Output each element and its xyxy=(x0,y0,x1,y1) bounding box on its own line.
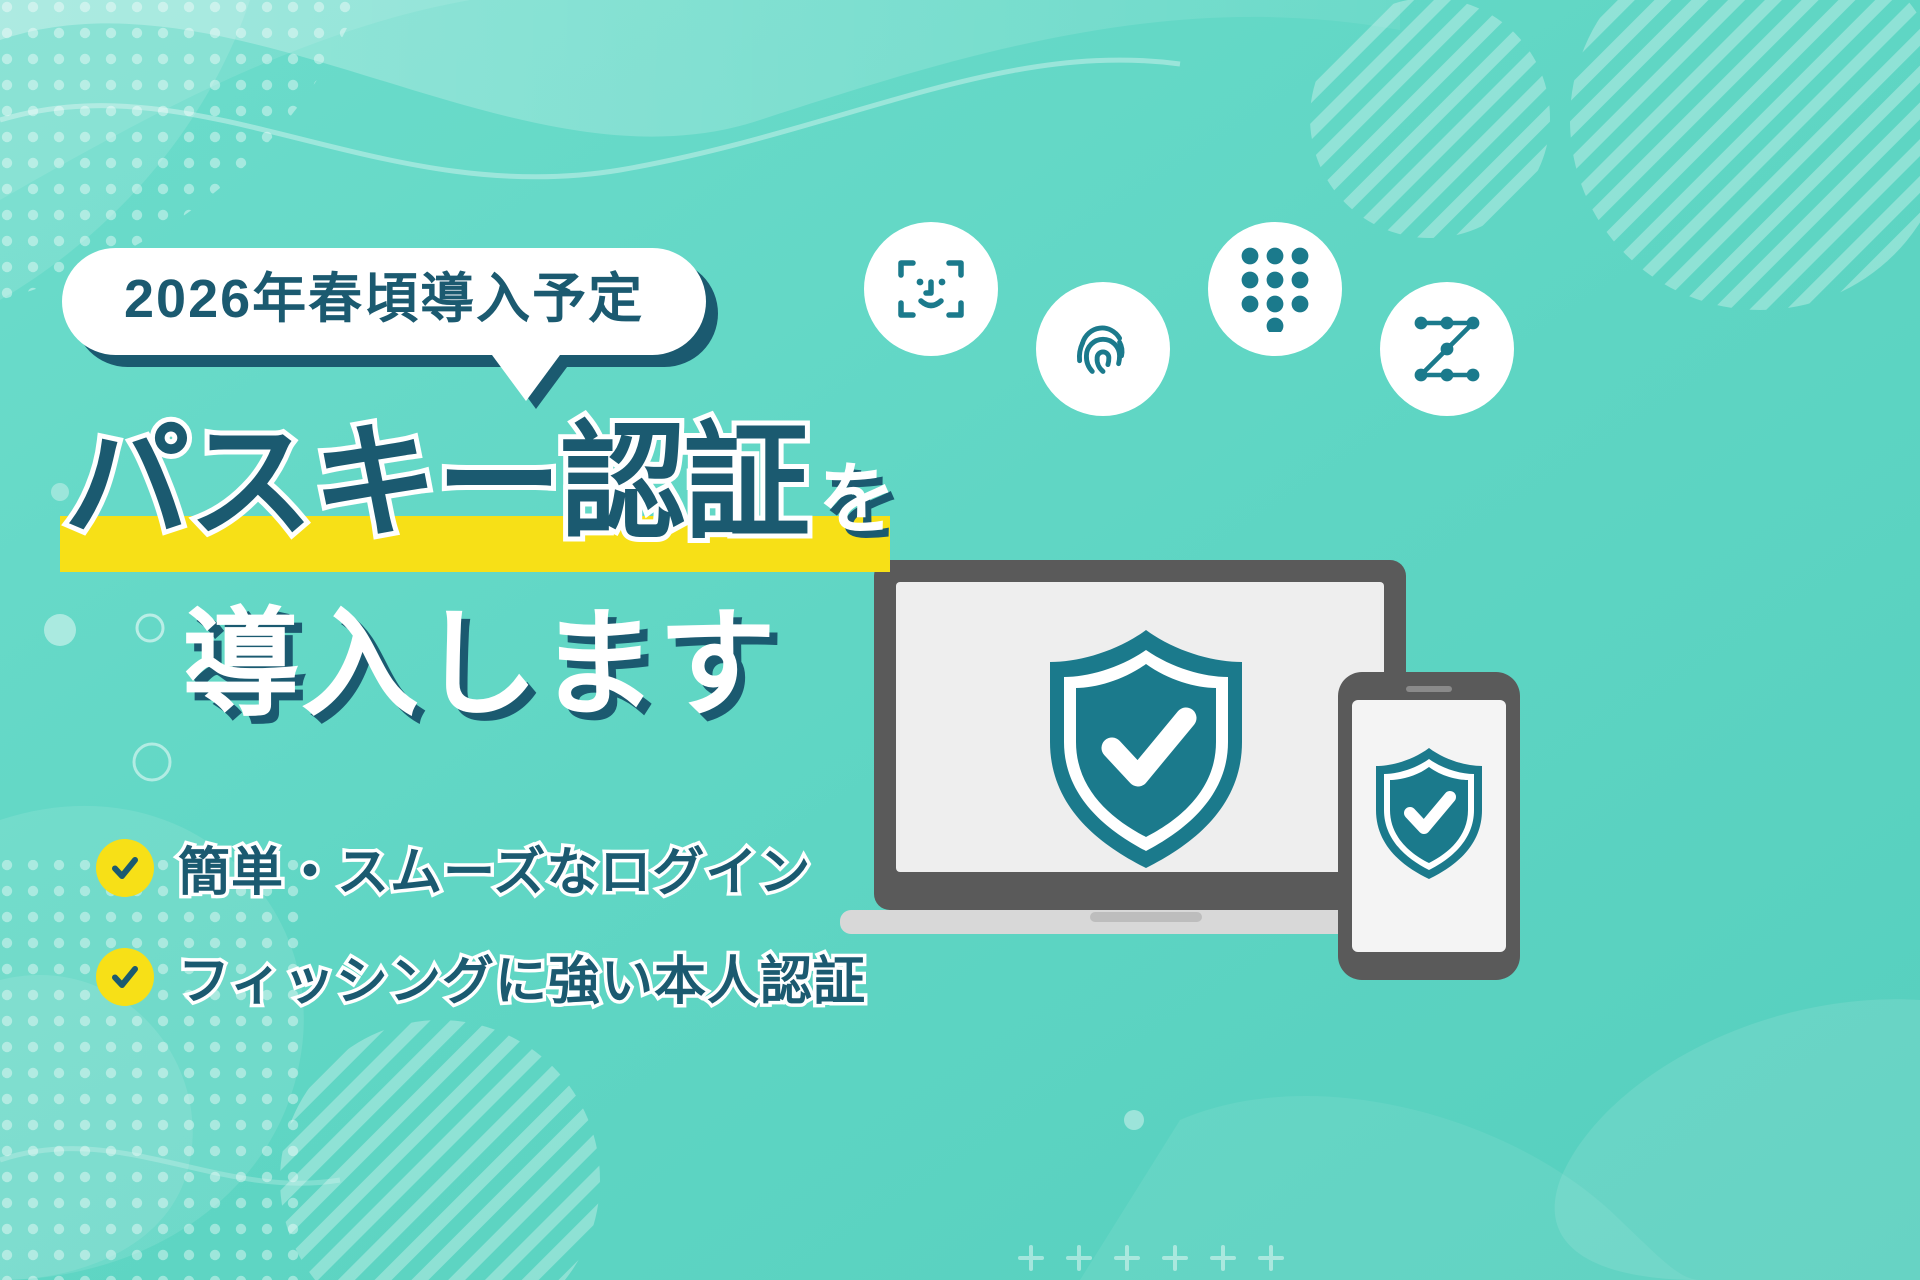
benefit-label: 簡単・スムーズなログイン xyxy=(178,830,811,905)
list-item: 簡単・スムーズなログイン xyxy=(96,830,866,905)
device-illustration xyxy=(840,560,1580,980)
pin-keypad-icon xyxy=(1208,222,1342,356)
speech-bubble-tail xyxy=(492,355,560,401)
illustration-column xyxy=(1040,0,1920,1280)
list-item: フィッシングに強い本人認証 xyxy=(96,939,866,1014)
release-badge-label: 2026年春頃導入予定 xyxy=(124,270,644,329)
headline-line-1: パスキー認証 を xyxy=(50,420,1050,570)
benefit-list: 簡単・スムーズなログイン フィッシングに強い本人認証 xyxy=(96,830,866,1048)
face-id-icon xyxy=(864,222,998,356)
headline-keyword: パスキー認証 xyxy=(64,420,808,546)
headline-line-1-inner: パスキー認証 を xyxy=(50,420,1050,546)
release-badge: 2026年春頃導入予定 xyxy=(62,248,706,355)
banner-canvas: 2026年春頃導入予定 パスキー認証 を 導入します xyxy=(0,0,1920,1280)
fingerprint-icon xyxy=(1036,282,1170,416)
pattern-lock-icon xyxy=(1380,282,1514,416)
check-icon xyxy=(96,948,154,1006)
check-icon xyxy=(96,839,154,897)
benefit-label: フィッシングに強い本人認証 xyxy=(178,939,866,1014)
release-badge-bubble: 2026年春頃導入予定 xyxy=(62,248,706,355)
headline-particle: を xyxy=(818,460,896,538)
